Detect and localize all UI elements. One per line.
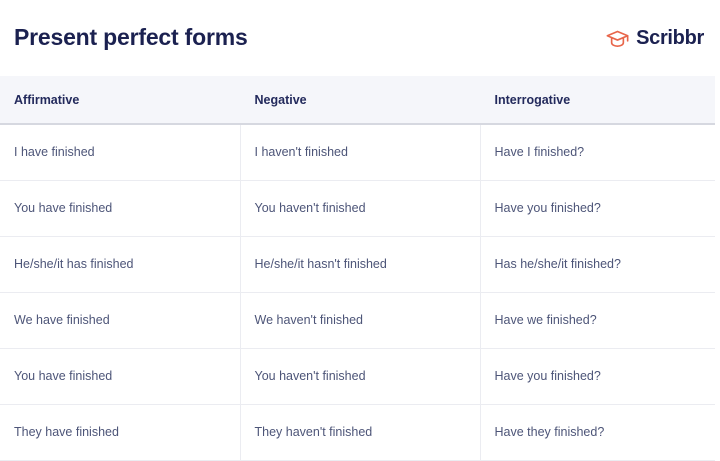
brand-logo[interactable]: Scribbr: [605, 26, 708, 51]
table-cell-affirmative: He/she/it has finished: [0, 236, 240, 292]
table-header-row: Affirmative Negative Interrogative: [0, 76, 715, 124]
column-header-affirmative: Affirmative: [0, 76, 240, 124]
brand-name: Scribbr: [636, 28, 704, 48]
table-cell-negative: I haven't finished: [240, 124, 480, 180]
table-cell-negative: He/she/it hasn't finished: [240, 236, 480, 292]
table-header: Affirmative Negative Interrogative: [0, 76, 715, 124]
table-cell-negative: You haven't finished: [240, 348, 480, 404]
table-body: I have finished I haven't finished Have …: [0, 124, 715, 460]
table-cell-interrogative: Have I finished?: [480, 124, 715, 180]
table-cell-interrogative: Have you finished?: [480, 180, 715, 236]
column-header-interrogative: Interrogative: [480, 76, 715, 124]
table-row: You have finished You haven't finished H…: [0, 348, 715, 404]
table-cell-interrogative: Has he/she/it finished?: [480, 236, 715, 292]
table-cell-negative: We haven't finished: [240, 292, 480, 348]
table-cell-affirmative: You have finished: [0, 180, 240, 236]
page-title: Present perfect forms: [14, 25, 248, 50]
page-header: Present perfect forms Scribbr: [0, 0, 720, 76]
table-row: You have finished You haven't finished H…: [0, 180, 715, 236]
table-row: I have finished I haven't finished Have …: [0, 124, 715, 180]
table-cell-affirmative: I have finished: [0, 124, 240, 180]
forms-table-container: Affirmative Negative Interrogative I hav…: [0, 76, 715, 461]
table-cell-affirmative: They have finished: [0, 404, 240, 460]
table-cell-affirmative: We have finished: [0, 292, 240, 348]
table-row: He/she/it has finished He/she/it hasn't …: [0, 236, 715, 292]
present-perfect-forms-table: Affirmative Negative Interrogative I hav…: [0, 76, 715, 461]
table-cell-interrogative: Have they finished?: [480, 404, 715, 460]
table-row: We have finished We haven't finished Hav…: [0, 292, 715, 348]
graduation-cap-icon: [605, 26, 630, 51]
table-cell-interrogative: Have you finished?: [480, 348, 715, 404]
page-root: Present perfect forms Scribbr Affirmativ…: [0, 0, 720, 457]
table-cell-negative: They haven't finished: [240, 404, 480, 460]
column-header-negative: Negative: [240, 76, 480, 124]
table-row: They have finished They haven't finished…: [0, 404, 715, 460]
table-cell-affirmative: You have finished: [0, 348, 240, 404]
table-cell-interrogative: Have we finished?: [480, 292, 715, 348]
table-cell-negative: You haven't finished: [240, 180, 480, 236]
